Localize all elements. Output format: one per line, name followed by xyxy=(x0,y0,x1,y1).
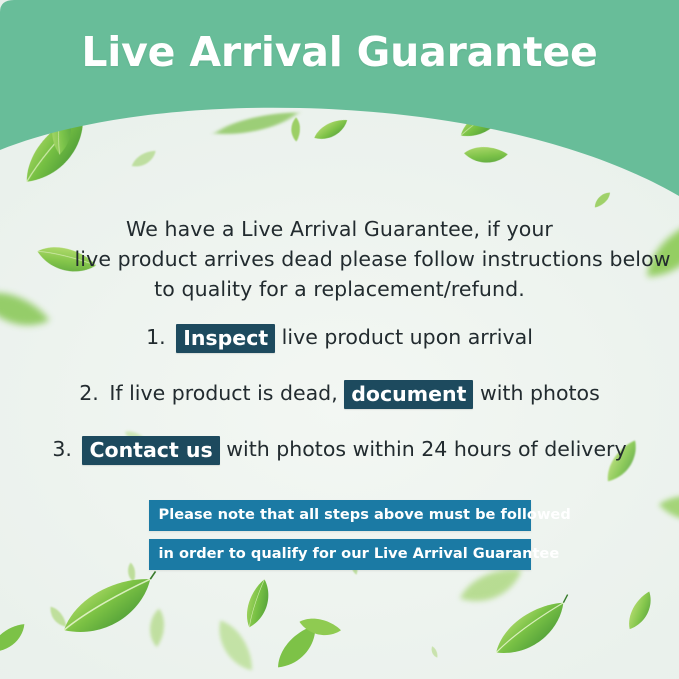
falling-leaf-icon xyxy=(209,110,303,140)
intro-line-2: live product arrives dead please follow … xyxy=(75,244,605,274)
falling-leaf-icon xyxy=(52,572,165,648)
falling-leaf-icon xyxy=(460,139,509,172)
falling-leaf-icon xyxy=(286,116,304,143)
note-line-1: Please note that all steps above must be… xyxy=(149,500,531,531)
falling-leaf-icon xyxy=(484,597,579,666)
falling-leaf-icon xyxy=(8,108,106,195)
falling-leaf-icon xyxy=(590,189,614,209)
falling-leaf-icon xyxy=(653,484,679,537)
note-banner: Please note that all steps above must be… xyxy=(149,500,531,570)
falling-leaf-icon xyxy=(295,609,343,647)
step-text-2-after: with photos xyxy=(480,381,600,405)
step-item-3: 3. Contact us with photos within 24 hour… xyxy=(0,432,679,466)
step-highlight-contact-us: Contact us xyxy=(82,436,219,465)
falling-leaf-icon xyxy=(453,101,515,145)
falling-leaf-icon xyxy=(0,621,33,659)
step-number-1: 1. xyxy=(146,325,166,349)
falling-leaf-icon xyxy=(141,605,171,648)
page-title: Live Arrival Guarantee xyxy=(0,28,679,76)
falling-leaf-icon xyxy=(43,99,84,159)
step-item-2: 2. If live product is dead, document wit… xyxy=(0,376,679,410)
falling-leaf-icon xyxy=(430,645,438,659)
falling-leaf-icon xyxy=(310,117,352,144)
step-text-1: live product upon arrival xyxy=(282,325,533,349)
intro-paragraph: We have a Live Arrival Guarantee, if you… xyxy=(75,214,605,304)
intro-line-3: to quality for a replacement/refund. xyxy=(75,274,605,304)
intro-line-1: We have a Live Arrival Guarantee, if you… xyxy=(75,214,605,244)
falling-leaf-icon xyxy=(235,576,284,633)
falling-leaf-icon xyxy=(46,603,68,632)
live-arrival-guarantee-card: Live Arrival Guarantee We have a Live Ar… xyxy=(0,0,679,679)
step-number-3: 3. xyxy=(52,437,72,461)
step-text-3: with photos within 24 hours of delivery xyxy=(226,437,626,461)
falling-leaf-icon xyxy=(125,562,137,583)
falling-leaf-icon xyxy=(128,149,160,172)
note-line-2: in order to qualify for our Live Arrival… xyxy=(149,539,531,570)
falling-leaf-icon xyxy=(210,613,257,679)
step-highlight-document: document xyxy=(344,380,473,409)
steps-list: 1. Inspect live product upon arrival 2. … xyxy=(0,320,679,488)
falling-leaf-icon xyxy=(267,622,330,677)
step-text-2-before: If live product is dead, xyxy=(109,381,337,405)
falling-leaf-icon xyxy=(619,589,664,636)
falling-leaf-icon xyxy=(454,566,529,610)
step-highlight-inspect: Inspect xyxy=(176,324,275,353)
step-number-2: 2. xyxy=(79,381,99,405)
step-item-1: 1. Inspect live product upon arrival xyxy=(0,320,679,354)
